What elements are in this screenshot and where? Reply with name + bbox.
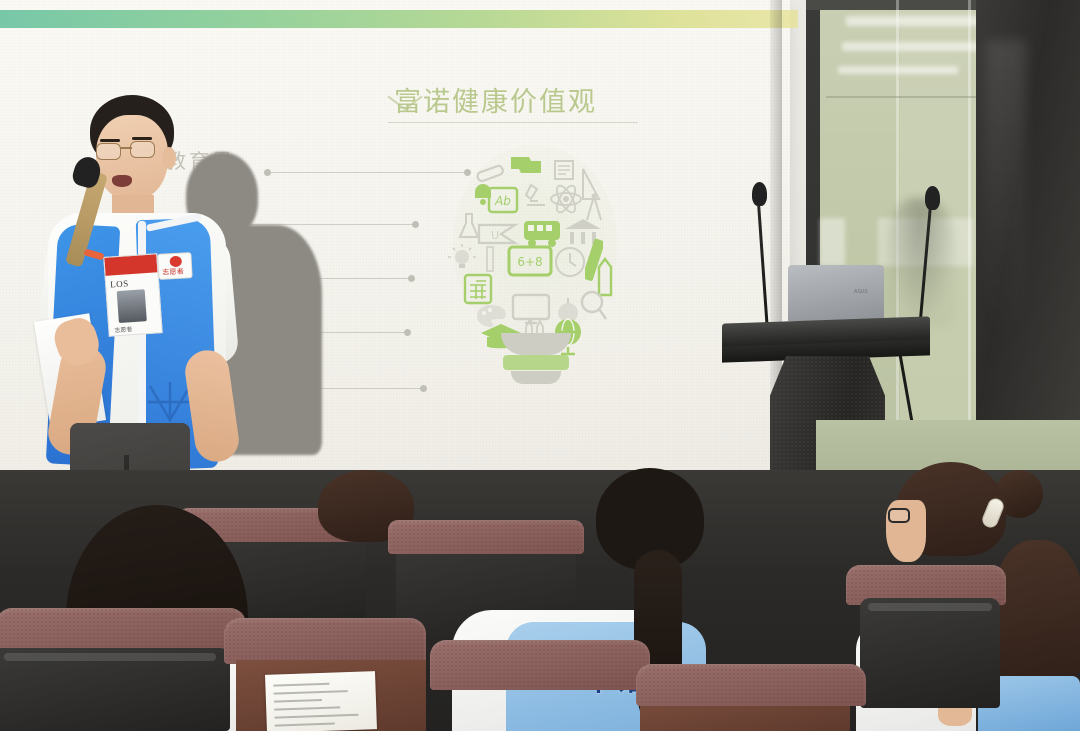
- notebook-line-6: [275, 723, 335, 727]
- atom-icon: [549, 183, 583, 215]
- svg-text:U: U: [491, 229, 499, 242]
- blackboard-icon: 6+8: [507, 245, 553, 279]
- laptop-brand-logo: ASUS: [854, 289, 868, 295]
- connector-dot-right-2: [412, 221, 419, 228]
- seat-texture: [224, 618, 426, 664]
- svg-text:6+8: 6+8: [517, 255, 542, 269]
- attendee-right-glasses: [888, 508, 910, 523]
- seatback-row1-left: [0, 648, 230, 731]
- slide-title: 富诺健康价值观: [394, 80, 597, 119]
- seatback-highlight: [4, 653, 215, 661]
- podium-microphone-head-left: [752, 182, 767, 206]
- presenter-glasses-left-lens: [96, 143, 121, 160]
- ceiling-light-reflection-3: [838, 66, 958, 74]
- microscope-icon: [521, 181, 549, 211]
- presenter-eyebrow-left: [100, 139, 120, 142]
- notebook-line-1: [273, 683, 329, 686]
- slide-accent-bar: [0, 10, 798, 28]
- notebook-line-3: [274, 699, 322, 702]
- notebook: [265, 671, 377, 731]
- lightbulb-ring-gray: [511, 371, 561, 384]
- seat-row1-far-right: [636, 664, 866, 706]
- seat-row1-center: [224, 618, 426, 664]
- presenter-vest-logo-mark: [169, 256, 182, 268]
- lightbulb-small-icon: [447, 243, 477, 273]
- presenter-badge-text: LOS: [110, 278, 129, 289]
- presenter-mouth: [112, 175, 132, 187]
- seatback-row3-right: [860, 598, 1000, 708]
- connector-dot-right-4: [404, 329, 411, 336]
- podium-microphone-head-right: [925, 186, 940, 210]
- presenter-badge-subtext: 志愿者: [114, 324, 133, 334]
- attendee-far-right-head: [992, 540, 1080, 690]
- window-reflection-panel-1: [820, 218, 845, 266]
- connector-dot-right-5: [420, 385, 427, 392]
- presentation-photo-scene: 富诺健康价值观 教育界: [0, 0, 1080, 731]
- svg-text:Ab: Ab: [494, 194, 511, 208]
- presenter-vest-logo-text: 志愿者: [162, 267, 184, 278]
- ruler-small-icon: [485, 245, 495, 273]
- slide-title-underline: [388, 122, 638, 123]
- notebook-line-2: [274, 690, 348, 694]
- pillar-sheen: [986, 40, 1026, 340]
- laptop[interactable]: ASUS: [788, 265, 884, 321]
- presenter-glasses-bridge: [120, 147, 132, 149]
- clock-icon: [553, 245, 587, 279]
- presenter-eyebrow-right: [132, 137, 152, 140]
- lightbulb-ring-green: [503, 355, 569, 370]
- notebook-line-5: [274, 714, 358, 718]
- ceiling-light-reflection-2: [842, 42, 987, 51]
- presenter-badge-header: [104, 254, 157, 276]
- seat-texture: [636, 664, 866, 706]
- presenter-badge-photo: [117, 289, 147, 323]
- notebook-line-4: [274, 706, 340, 710]
- lightbulb-base: [501, 333, 571, 355]
- presenter-ear: [162, 147, 176, 169]
- ceiling-light-reflection-1: [846, 16, 996, 26]
- presenter-vest-logo: 志愿者: [157, 252, 192, 280]
- seat-texture: [388, 520, 584, 554]
- connector-dot-right-3: [408, 275, 415, 282]
- connector-line-1: [268, 172, 468, 173]
- calculator-icon: [463, 273, 493, 305]
- book-ab-icon: Ab: [487, 185, 519, 215]
- pennant-icon: U: [477, 221, 519, 247]
- seat-row2-center: [388, 520, 584, 554]
- seat-texture: [430, 640, 650, 690]
- connector-dot-left-1: [264, 169, 271, 176]
- presenter-badge: LOS 志愿者: [103, 253, 162, 337]
- notebook-icon: [551, 157, 577, 183]
- glass-frame-top: [806, 0, 981, 10]
- seatback-highlight: [868, 603, 991, 611]
- presenter-glasses-right-lens: [130, 141, 155, 158]
- seat-row1-right: [430, 640, 650, 690]
- glass-mullion-horizontal: [826, 96, 996, 98]
- lightbulb-icon-cluster: Ab U: [445, 145, 625, 410]
- flag-icon: [509, 153, 543, 177]
- dark-pillar: [976, 0, 1080, 470]
